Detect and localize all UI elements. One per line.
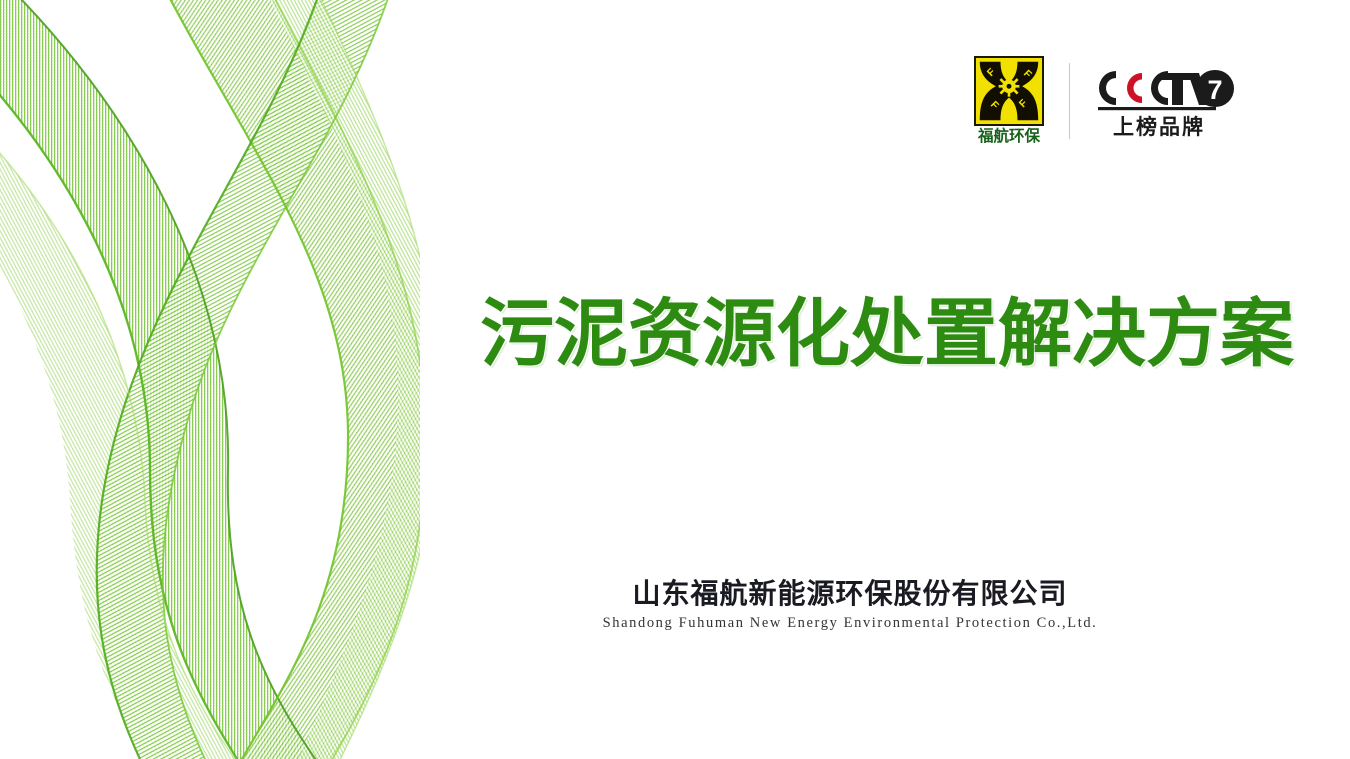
cctv-channel-number: 7 [1207, 75, 1222, 105]
brand-name-cn: 福航环保 [978, 129, 1040, 145]
company-name-en: Shandong Fuhuman New Energy Environmenta… [430, 616, 1270, 632]
fuhang-x-mark-icon: F F F F [974, 56, 1044, 126]
company-name-cn: 山东福航新能源环保股份有限公司 [430, 578, 1270, 609]
page-title: 污泥资源化处置解决方案 [480, 293, 1220, 376]
presentation-title-slide: F F F F 福航环保 [0, 0, 1350, 759]
company-logo: F F F F 福航环保 [965, 56, 1053, 145]
logo-divider [1069, 63, 1070, 139]
cctv-wordmark-icon: 7 [1084, 64, 1234, 114]
logo-bar: F F F F 福航环保 [965, 48, 1255, 153]
cctv7-logo: 7 上榜品牌 [1084, 64, 1234, 138]
cctv-subtitle: 上榜品牌 [1113, 117, 1205, 138]
green-ribbon-artwork [0, 0, 420, 759]
company-block: 山东福航新能源环保股份有限公司 Shandong Fuhuman New Ene… [430, 578, 1270, 632]
